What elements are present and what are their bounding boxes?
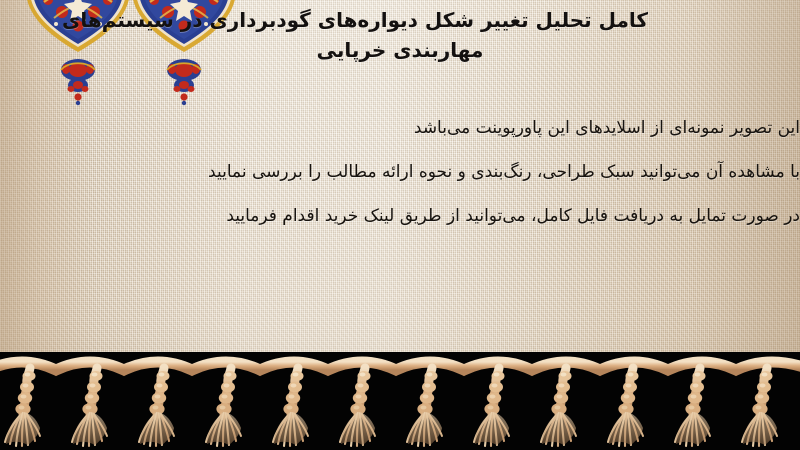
knotted-tassel-fringe [0, 352, 800, 450]
tassel-row [5, 368, 777, 446]
fringe-tassels-svg [0, 352, 800, 450]
slide-body-text: این تصویر نمونه‌ای از اسلایدهای این پاور… [0, 106, 800, 238]
slide-title-line-2: مهاربندی خرپایی [20, 35, 780, 65]
slide-title-line-1: کامل تحلیل تغییر شکل دیواره‌های گودبردار… [20, 5, 780, 35]
body-line-purchase-notice: در صورت تمایل به دریافت فایل کامل، می‌تو… [0, 194, 800, 238]
fringe-top-cord [0, 362, 800, 370]
presentation-slide: کامل تحلیل تغییر شکل دیواره‌های گودبردار… [0, 0, 800, 450]
body-line-review-notice: با مشاهده آن می‌توانید سبک طراحی، رنگ‌بن… [0, 150, 800, 194]
slide-text-layer: کامل تحلیل تغییر شکل دیواره‌های گودبردار… [0, 0, 800, 378]
body-line-sample-notice: این تصویر نمونه‌ای از اسلایدهای این پاور… [0, 106, 800, 150]
slide-title: کامل تحلیل تغییر شکل دیواره‌های گودبردار… [20, 5, 780, 65]
